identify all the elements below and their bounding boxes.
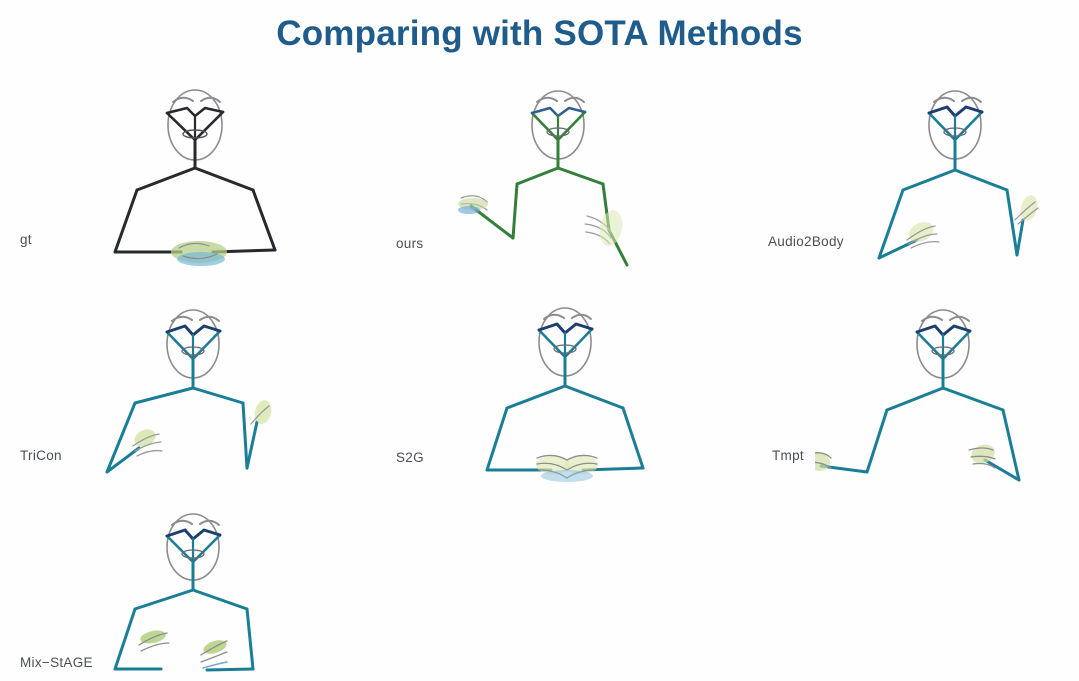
- figure-label-audio2body: Audio2Body: [768, 234, 844, 249]
- skeleton-figure-s2g: [465, 300, 675, 490]
- figure-label-tmpt: Tmpt: [772, 448, 804, 463]
- figure-label-tricon: TriCon: [20, 448, 62, 463]
- figure-panel-mix-stage: Mix−StAGE: [0, 498, 360, 681]
- figure-label-gt: gt: [20, 232, 32, 247]
- skeleton-figure-tmpt: [815, 300, 1065, 495]
- figure-panel-tricon: TriCon: [0, 290, 360, 505]
- figure-label-mix-stage: Mix−StAGE: [20, 655, 93, 670]
- figure-panel-ours: ours: [360, 0, 720, 290]
- skeleton-figure-audio2body: [855, 80, 1070, 280]
- figure-label-ours: ours: [396, 236, 423, 251]
- figure-label-s2g: S2G: [396, 450, 424, 465]
- skeleton-figure-gt: [95, 80, 305, 280]
- skeleton-figure-tricon: [95, 300, 305, 490]
- figure-panel-tmpt: Tmpt: [720, 290, 1079, 505]
- slide-canvas: Comparing with SOTA Methods gt: [0, 0, 1079, 681]
- skeleton-figure-ours: [455, 80, 665, 280]
- figure-panel-s2g: S2G: [360, 290, 720, 505]
- skeleton-figure-mix-stage: [95, 505, 305, 681]
- figure-panel-gt: gt: [0, 0, 360, 290]
- figure-panel-audio2body: Audio2Body: [720, 0, 1079, 290]
